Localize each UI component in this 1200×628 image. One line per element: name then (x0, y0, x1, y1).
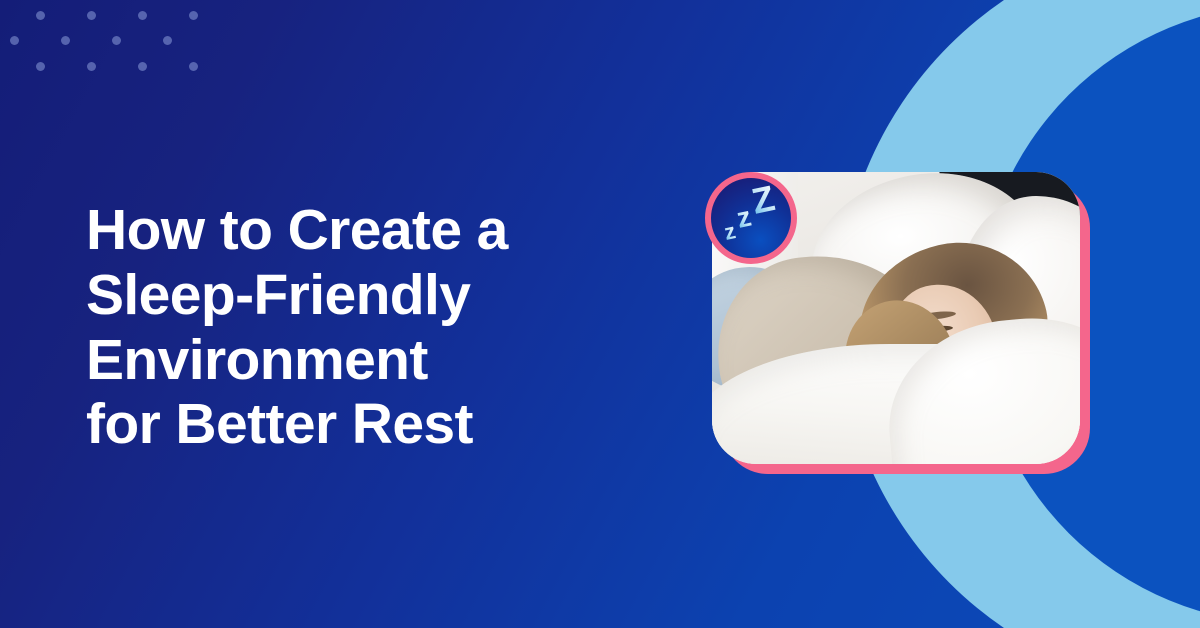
hero-image-card: Woman sleeping peacefully in bed with wh… (712, 172, 1090, 474)
grid-dot (138, 62, 147, 71)
grid-dot (61, 36, 70, 45)
grid-dot (189, 11, 198, 20)
page-title: How to Create a Sleep-Friendly Environme… (86, 198, 686, 457)
headline-line-2: Sleep-Friendly (86, 263, 686, 328)
grid-dot (36, 62, 45, 71)
grid-dot (189, 62, 198, 71)
svg-text:Z: Z (748, 178, 778, 222)
headline-line-1: How to Create a (86, 198, 686, 263)
article-header-banner: How to Create a Sleep-Friendly Environme… (0, 0, 1200, 628)
svg-text:z: z (722, 218, 738, 245)
grid-dot (10, 36, 19, 45)
headline-line-3: Environment (86, 328, 686, 393)
dot-grid (0, 0, 210, 80)
grid-dot (138, 11, 147, 20)
grid-dot (112, 36, 121, 45)
headline-line-4: for Better Rest (86, 392, 686, 457)
grid-dot (87, 62, 96, 71)
zzz-sleep-icon: z z Z (705, 172, 797, 264)
grid-dot (36, 11, 45, 20)
grid-dot (87, 11, 96, 20)
svg-text:z: z (734, 201, 754, 234)
grid-dot (163, 36, 172, 45)
